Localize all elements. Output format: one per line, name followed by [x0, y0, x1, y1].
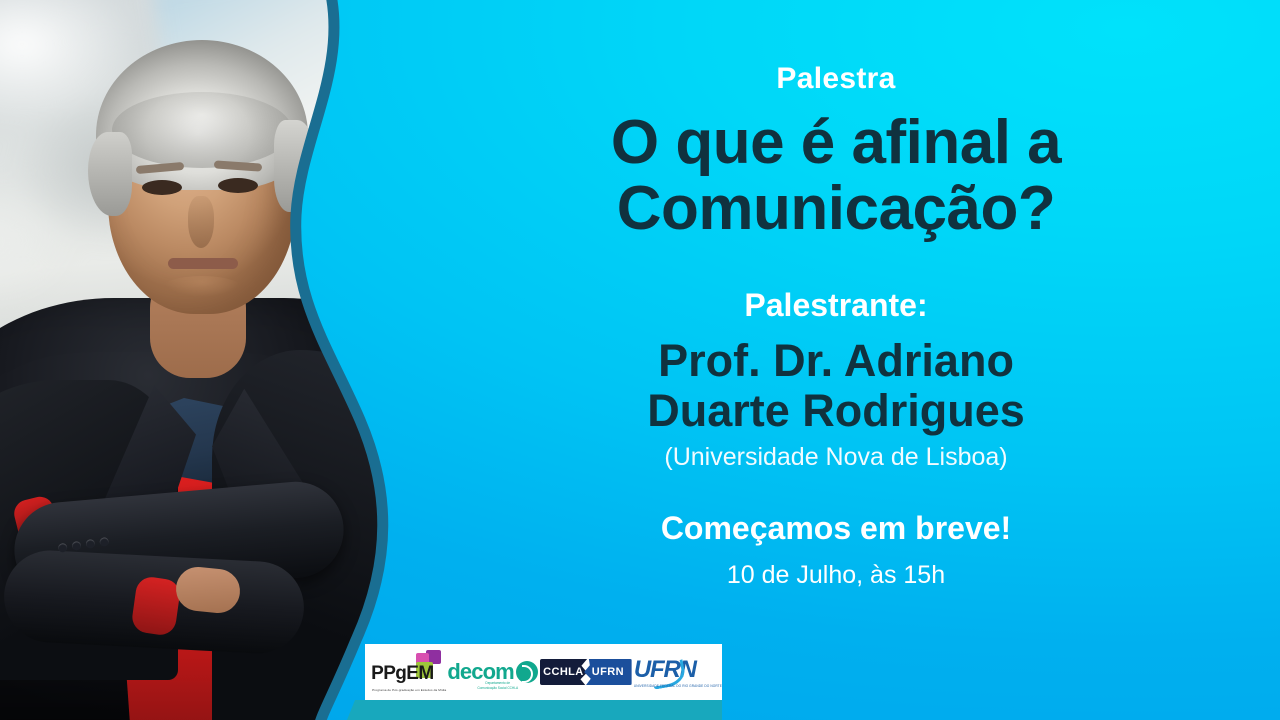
cchla-ufrn-logo: CCHLA UFRN	[540, 659, 632, 685]
speaker-affiliation: (Universidade Nova de Lisboa)	[664, 443, 1007, 472]
chin	[158, 276, 246, 306]
ppgem-tagline: Programa de Pós-graduação em Estudos da …	[372, 688, 446, 692]
event-title-line-1: O que é afinal a	[611, 110, 1061, 176]
decom-logo: decom Departamento de Comunicação Social…	[447, 652, 539, 692]
speaker-name-line-1: Prof. Dr. Adriano	[647, 336, 1025, 386]
start-soon-message: Começamos em breve!	[661, 510, 1011, 547]
mouth	[168, 258, 238, 269]
speaker-name-line-2: Duarte Rodrigues	[647, 386, 1025, 436]
speaker-label: Palestrante:	[744, 287, 927, 324]
decom-tagline: Departamento de Comunicação Social CCHLA	[477, 681, 518, 690]
ufrn-logo: UFRN UNIVERSIDADE FEDERAL DO RIO GRANDE …	[632, 652, 716, 692]
eye-right	[218, 178, 258, 193]
ppgem-wordmark: PPgEM	[371, 663, 433, 685]
ufrn-tagline: UNIVERSIDADE FEDERAL DO RIO GRANDE DO NO…	[634, 684, 722, 688]
decom-tagline-line-2: Comunicação Social CCHLA	[477, 686, 518, 690]
event-title-line-2: Comunicação?	[611, 176, 1061, 242]
decom-ear-icon	[516, 661, 538, 683]
cchla-label: CCHLA	[540, 659, 588, 685]
bottom-teal-strip	[365, 700, 722, 720]
event-text-column: Palestra O que é afinal a Comunicação? P…	[392, 0, 1280, 720]
nose	[188, 196, 214, 248]
event-datetime: 10 de Julho, às 15h	[727, 561, 945, 590]
livestream-event-slide: Palestra O que é afinal a Comunicação? P…	[0, 0, 1280, 720]
eye-left	[142, 180, 182, 195]
event-title: O que é afinal a Comunicação?	[611, 110, 1061, 241]
sponsor-logo-bar: PPgEM Programa de Pós-graduação em Estud…	[365, 644, 722, 700]
cchla-ufrn-label: UFRN	[584, 659, 632, 685]
hair-side-left	[88, 132, 132, 216]
ppgem-logo: PPgEM Programa de Pós-graduação em Estud…	[371, 649, 447, 695]
speaker-name: Prof. Dr. Adriano Duarte Rodrigues	[647, 336, 1025, 435]
event-kicker: Palestra	[776, 62, 895, 96]
